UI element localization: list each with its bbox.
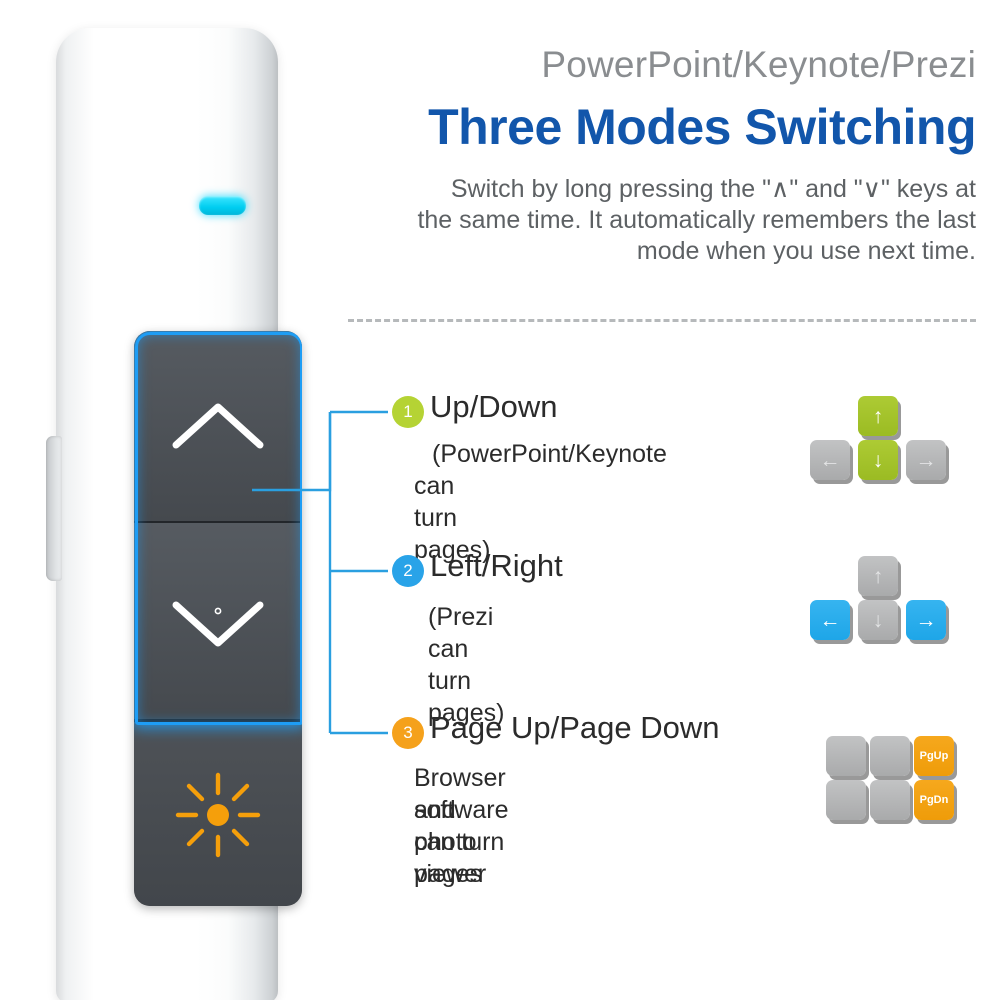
arrow-right-icon: → [916, 450, 937, 471]
arrow-up-icon: ↑ [873, 566, 884, 587]
arrow-down-icon: ↓ [873, 610, 884, 631]
item-description-line1: (PowerPoint/Keynote [432, 438, 667, 470]
dashed-divider [348, 319, 976, 322]
key-arrow-right: → [906, 440, 946, 480]
key-page-down-label: PgDn [920, 794, 949, 806]
badge-number: 2 [392, 555, 424, 587]
badge-number: 3 [392, 717, 424, 749]
arrow-up-icon: ↑ [873, 406, 884, 427]
item-description-line2: software can turn pages [414, 794, 508, 890]
item-title: Page Up/Page Down [430, 710, 720, 746]
key-blank-2 [870, 736, 910, 776]
page-title: Three Modes Switching [276, 98, 976, 156]
key-blank-1 [826, 736, 866, 776]
key-arrow-left: ← [810, 600, 850, 640]
key-arrow-up: ↑ [858, 556, 898, 596]
arrow-down-icon: ↓ [873, 450, 884, 471]
key-arrow-down: ↓ [858, 600, 898, 640]
key-arrow-right: → [906, 600, 946, 640]
key-page-up-label: PgUp [920, 750, 949, 762]
badge-number: 1 [392, 396, 424, 428]
key-diagram-page-up-down: PgUp PgDn [826, 736, 956, 824]
key-diagram-up-down: ↑ ← ↓ → [810, 396, 950, 480]
key-blank-4 [870, 780, 910, 820]
arrow-left-icon: ← [820, 450, 841, 471]
key-blank-3 [826, 780, 866, 820]
key-diagram-left-right: ↑ ← ↓ → [810, 556, 950, 640]
arrow-right-icon: → [916, 610, 937, 631]
item-title: Left/Right [430, 548, 563, 584]
subtitle-text: Switch by long pressing the "∧" and "∨" … [416, 174, 976, 267]
key-arrow-down: ↓ [858, 440, 898, 480]
infographic-page: PowerPoint/Keynote/Prezi Three Modes Swi… [0, 0, 1000, 1000]
item-title: Up/Down [430, 389, 558, 425]
eyebrow-text: PowerPoint/Keynote/Prezi [276, 44, 976, 86]
key-arrow-left: ← [810, 440, 850, 480]
key-page-down: PgDn [914, 780, 954, 820]
key-page-up: PgUp [914, 736, 954, 776]
key-arrow-up: ↑ [858, 396, 898, 436]
arrow-left-icon: ← [820, 610, 841, 631]
